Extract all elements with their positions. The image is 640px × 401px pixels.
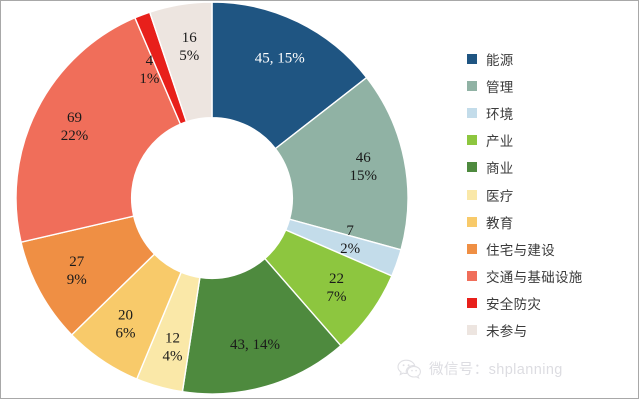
donut-chart: 45, 15%4615%72%227%43, 14%124%206%279%69… xyxy=(1,1,441,401)
legend-item-label: 教育 xyxy=(486,212,514,232)
legend-color-swatch xyxy=(467,217,477,227)
legend-color-swatch xyxy=(467,190,477,200)
legend-item[interactable]: 能源 xyxy=(467,45,637,72)
chart-legend: 能源管理环境产业商业医疗教育住宅与建设交通与基础设施安全防灾未参与 xyxy=(467,45,637,344)
legend-item[interactable]: 管理 xyxy=(467,72,637,99)
legend-item-label: 住宅与建设 xyxy=(486,239,555,259)
legend-item[interactable]: 住宅与建设 xyxy=(467,235,637,262)
donut-slices xyxy=(16,2,408,394)
legend-item[interactable]: 环境 xyxy=(467,99,637,126)
legend-color-swatch xyxy=(467,162,477,172)
watermark-text: 微信号：shplanning xyxy=(429,358,563,379)
legend-item-label: 产业 xyxy=(486,130,514,150)
legend-item-label: 未参与 xyxy=(486,320,527,340)
legend-item[interactable]: 教育 xyxy=(467,208,637,235)
legend-item[interactable]: 医疗 xyxy=(467,181,637,208)
legend-item-label: 环境 xyxy=(486,103,514,123)
legend-color-swatch xyxy=(467,54,477,64)
legend-item[interactable]: 交通与基础设施 xyxy=(467,263,637,290)
legend-color-swatch xyxy=(467,135,477,145)
legend-item-label: 能源 xyxy=(486,49,514,69)
legend-item-label: 医疗 xyxy=(486,185,514,205)
legend-color-swatch xyxy=(467,298,477,308)
legend-color-swatch xyxy=(467,108,477,118)
image-frame: 45, 15%4615%72%227%43, 14%124%206%279%69… xyxy=(0,0,639,399)
slice-data-label: 45, 15% xyxy=(255,51,305,67)
legend-item-label: 安全防灾 xyxy=(486,293,541,313)
legend-color-swatch xyxy=(467,81,477,91)
wechat-icon xyxy=(397,359,423,379)
legend-item[interactable]: 产业 xyxy=(467,127,637,154)
legend-item-label: 商业 xyxy=(486,157,514,177)
watermark: 微信号：shplanning xyxy=(397,358,563,379)
legend-item[interactable]: 商业 xyxy=(467,154,637,181)
legend-item-label: 管理 xyxy=(486,76,514,96)
legend-item[interactable]: 未参与 xyxy=(467,317,637,344)
legend-color-swatch xyxy=(467,244,477,254)
slice-data-label: 43, 14% xyxy=(230,337,280,353)
legend-item[interactable]: 安全防灾 xyxy=(467,290,637,317)
legend-color-swatch xyxy=(467,271,477,281)
donut-chart-svg: 45, 15%4615%72%227%43, 14%124%206%279%69… xyxy=(1,1,441,401)
legend-color-swatch xyxy=(467,325,477,335)
legend-item-label: 交通与基础设施 xyxy=(486,266,583,286)
